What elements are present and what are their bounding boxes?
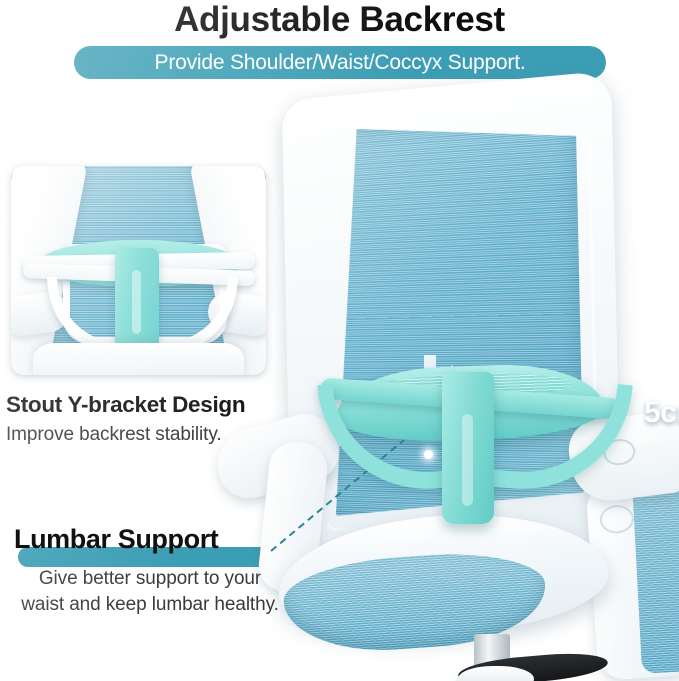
closeup-bracket-stem [115,248,159,358]
ybracket-caption-subtitle: Improve backrest stability. [6,424,222,446]
ybracket-caption-title: Stout Y-bracket Design [6,392,245,418]
adjust-range-label: 5cm/2inch [644,396,679,430]
lumbar-subtitle-line-2: waist and keep lumbar healthy. [0,592,300,618]
lumbar-support-subtitle: Give better support to your waist and ke… [0,566,300,618]
lumbar-support-label-group: Lumbar Support [14,524,218,555]
subtitle-banner: Provide Shoulder/Waist/Coccyx Support. [74,46,606,79]
subtitle-banner-label: Provide Shoulder/Waist/Coccyx Support. [155,52,526,74]
ybracket-closeup-photo [11,166,266,375]
lumbar-bracket-assembly [318,354,628,534]
product-infographic: Adjustable Backrest Provide Shoulder/Wai… [0,0,679,681]
chair-photo: 5cm/2inch [258,86,679,681]
lumbar-bracket-stem [442,372,494,524]
page-title: Adjustable Backrest [0,0,679,42]
lumbar-support-title: Lumbar Support [14,524,218,555]
lumbar-subtitle-line-1: Give better support to your [0,566,300,592]
closeup-frame-bottom [33,343,244,375]
leader-line-endpoint-dot [424,450,433,459]
